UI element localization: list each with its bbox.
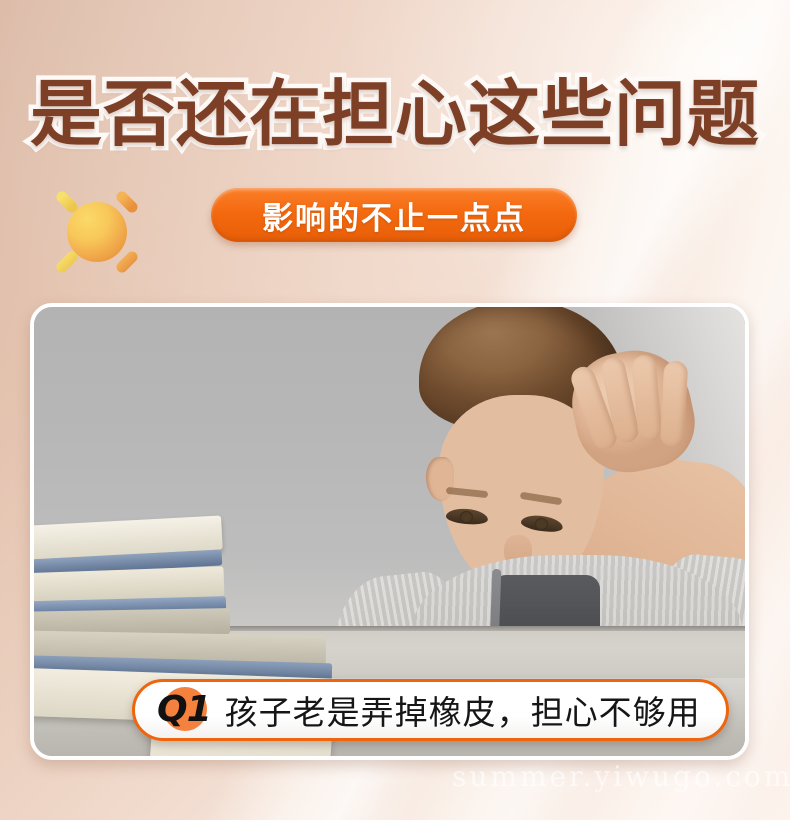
question-tag-circle-1 [163,687,207,731]
title-container: 是否还在担心这些问题 [0,76,790,152]
question-tag-1: Q1 [157,690,211,730]
page-title: 是否还在担心这些问题 [0,76,790,152]
sun-icon [38,172,156,290]
subtitle-badge: 影响的不止一点点 [211,188,577,242]
question-text-1: 孩子老是弄掉橡皮，担心不够用 [225,686,701,734]
watermark: summer.yiwugo.com [452,760,790,793]
subtitle-badge-label: 影响的不止一点点 [262,193,526,238]
photo-boy-finger-4 [660,360,688,447]
photo-card: Q1 孩子老是弄掉橡皮，担心不够用 Q2 会担心擦破本子 Q3 橡皮屑太多，很难… [30,303,749,760]
question-row-1[interactable]: Q1 孩子老是弄掉橡皮，担心不够用 [132,679,729,741]
promo-poster: 是否还在担心这些问题 [0,0,790,820]
photo-boy-ear [426,457,454,501]
